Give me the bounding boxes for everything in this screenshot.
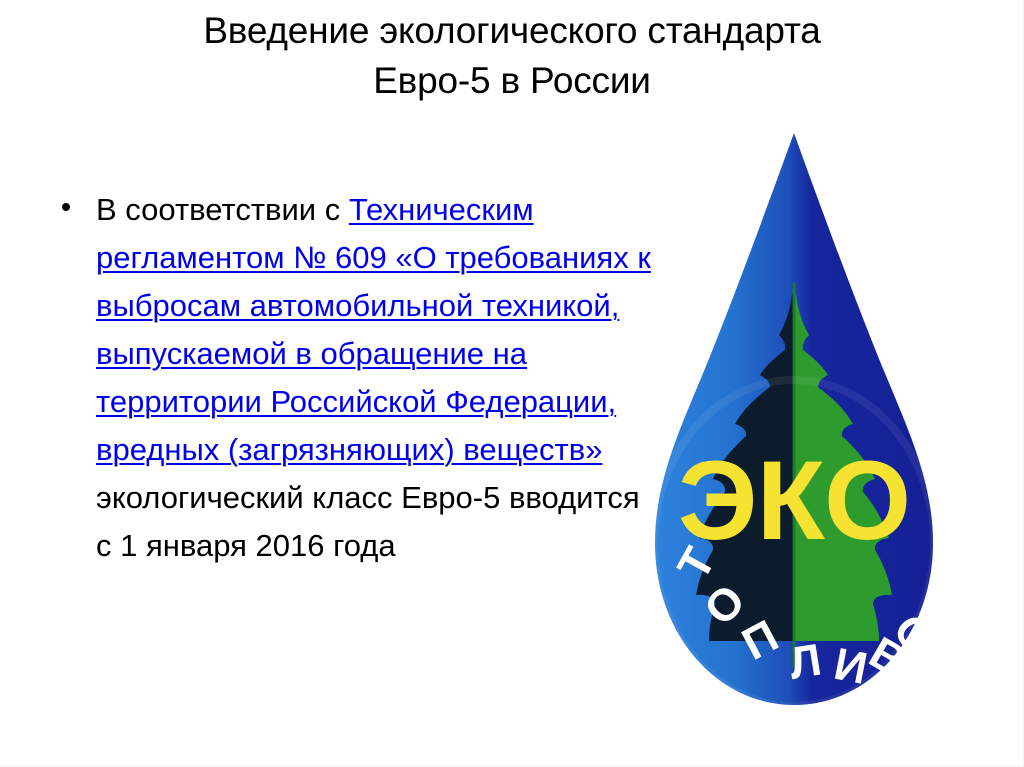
logo-word-eko: ЭКО [678, 438, 910, 563]
body-content: В соответствии с Техническим регламентом… [52, 186, 652, 570]
bullet-text-prefix: В соответствии с [96, 192, 349, 227]
eco-fuel-droplet-logo: ЭКО Т О П Л И В О Логотип ЭКО ТОПЛИВО — … [641, 131, 947, 709]
page-title: Введение экологического стандарта Евро-5… [40, 6, 984, 106]
bullet-text: В соответствии с Техническим регламентом… [96, 186, 652, 570]
logo-alt-text: Логотип ЭКО ТОПЛИВО — синяя капля с зелё… [641, 709, 642, 710]
bullet-text-suffix: экологический класс Евро-5 вводится с 1 … [96, 480, 640, 563]
slide-canvas: Введение экологического стандарта Евро-5… [0, 0, 1024, 767]
list-item: В соответствии с Техническим регламентом… [52, 186, 652, 570]
bullet-marker-icon [62, 203, 70, 211]
technical-regulation-link[interactable]: Техническим регламентом № 609 «О требова… [96, 192, 651, 467]
